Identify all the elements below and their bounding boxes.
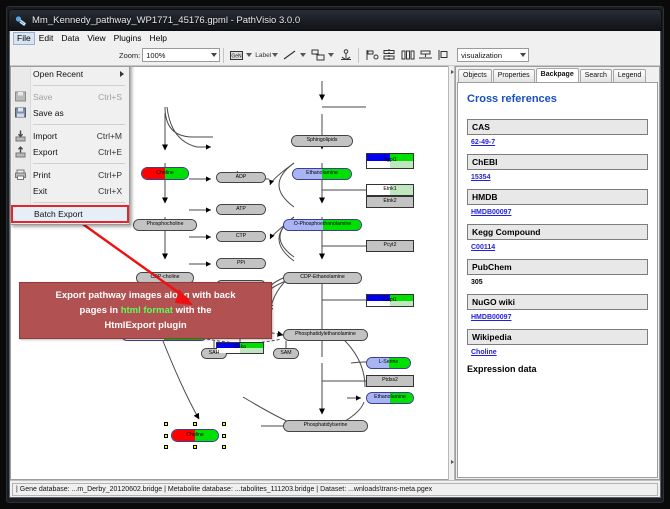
tab-legend[interactable]: Legend <box>613 69 646 82</box>
xref-source-cas: CAS <box>467 119 648 135</box>
xref-block: ChEBI15354 <box>467 154 648 181</box>
file-menu-item-batch-export[interactable]: Batch Export <box>12 206 128 222</box>
visualization-value: visualization <box>461 51 502 60</box>
menubar: File Edit Data View Plugins Help <box>10 31 660 45</box>
menu-item-label: Open Recent <box>33 69 129 79</box>
menu-item-label: Exit <box>33 186 98 196</box>
menu-separator <box>33 124 125 125</box>
tab-objects[interactable]: Objects <box>458 69 492 82</box>
chevron-down-icon[interactable] <box>300 53 306 57</box>
chevron-down-icon[interactable] <box>246 53 252 57</box>
chevron-right-icon <box>120 71 124 77</box>
xref-value[interactable]: C00114 <box>467 244 648 251</box>
xref-link[interactable]: HMDB00097 <box>471 314 511 321</box>
xref-value[interactable]: HMDB00097 <box>467 314 648 321</box>
menu-separator <box>33 202 125 203</box>
backpage-content: Cross references CAS62-49-7ChEBI15354HMD… <box>457 82 658 478</box>
menu-item-accelerator: Ctrl+X <box>98 186 129 196</box>
pathway-canvas[interactable]: SphingolipidsEthanolamineO-Phosphoethano… <box>10 66 448 480</box>
export-icon <box>14 145 28 159</box>
align-left-icon[interactable] <box>363 47 379 63</box>
zoom-value: 100% <box>146 51 165 60</box>
statusbar: | Gene database: ...m_Derby_20120602.bri… <box>10 480 660 497</box>
sidebar-tabs: Objects Properties Backpage Search Legen… <box>456 67 659 82</box>
xref-block: HMDBHMDB00097 <box>467 189 648 216</box>
distribute-icon[interactable] <box>399 47 415 63</box>
align-center-icon[interactable] <box>381 47 397 63</box>
xref-value[interactable]: 15354 <box>467 174 648 181</box>
menu-item-accelerator: Ctrl+E <box>98 147 129 157</box>
file-menu-item-print[interactable]: PrintCtrl+P <box>11 167 129 183</box>
menu-help[interactable]: Help <box>146 32 171 45</box>
xref-block: NuGO wikiHMDB00097 <box>467 294 648 321</box>
xref-source-nugo-wiki: NuGO wiki <box>467 294 648 310</box>
xref-block: WikipediaCholine <box>467 329 648 356</box>
stack-icon[interactable] <box>417 47 433 63</box>
cross-references-title: Cross references <box>467 93 648 105</box>
print-icon <box>14 168 28 182</box>
cross-references-list: CAS62-49-7ChEBI15354HMDBHMDB00097Kegg Co… <box>467 119 648 356</box>
xref-value[interactable]: Choline <box>467 349 648 356</box>
xref-source-chebi: ChEBI <box>467 154 648 170</box>
xref-link[interactable]: C00114 <box>471 244 495 251</box>
menu-separator <box>33 163 125 164</box>
splitter-grip <box>451 70 454 75</box>
menu-data[interactable]: Data <box>57 32 83 45</box>
xref-source-kegg-compound: Kegg Compound <box>467 224 648 240</box>
side-panel: Objects Properties Backpage Search Legen… <box>455 66 660 480</box>
chevron-down-icon <box>520 53 526 57</box>
menu-item-label: Export <box>33 147 98 157</box>
content-area: SphingolipidsEthanolamineO-Phosphoethano… <box>10 66 660 480</box>
xref-value[interactable]: HMDB00097 <box>467 209 648 216</box>
svg-text:GeN: GeN <box>231 53 242 59</box>
visualization-combobox[interactable]: visualization <box>457 48 529 62</box>
menu-edit[interactable]: Edit <box>35 32 58 45</box>
xref-link[interactable]: Choline <box>471 349 497 356</box>
file-menu-item-import[interactable]: ImportCtrl+M <box>11 128 129 144</box>
panel-splitter[interactable] <box>448 66 455 480</box>
line-icon[interactable] <box>282 47 298 63</box>
file-menu-item-exit[interactable]: ExitCtrl+X <box>11 183 129 199</box>
anchor-icon[interactable] <box>338 47 354 63</box>
menu-view[interactable]: View <box>83 32 109 45</box>
menu-item-label: Save <box>33 92 98 102</box>
menu-item-accelerator: Ctrl+P <box>98 170 129 180</box>
label-button[interactable]: Label <box>255 52 271 59</box>
menu-item-label: Batch Export <box>34 209 128 219</box>
save-disk-icon <box>14 90 28 104</box>
toolbar-separator <box>223 48 224 63</box>
menu-separator <box>33 85 125 86</box>
xref-block: CAS62-49-7 <box>467 119 648 146</box>
xref-source-pubchem: PubChem <box>467 259 648 275</box>
tab-search[interactable]: Search <box>580 69 612 82</box>
menu-item-label: Import <box>33 131 97 141</box>
chevron-down-icon <box>211 53 217 57</box>
chevron-down-icon[interactable] <box>328 53 334 57</box>
menu-item-accelerator: Ctrl+M <box>97 131 129 141</box>
menu-item-accelerator: Ctrl+S <box>98 92 129 102</box>
chevron-down-icon[interactable] <box>272 53 278 57</box>
zoom-combobox[interactable]: 100% <box>142 48 220 62</box>
toolbar: Zoom: 100% GeN Label <box>10 45 660 66</box>
menu-item-label: Print <box>33 170 98 180</box>
xref-link[interactable]: 62-49-7 <box>471 139 495 146</box>
xref-value: 305 <box>467 279 648 286</box>
pathvisio-app-icon <box>14 14 27 27</box>
file-menu-item-open-recent[interactable]: Open Recent <box>11 66 129 82</box>
xref-source-wikipedia: Wikipedia <box>467 329 648 345</box>
window-title: Mm_Kennedy_pathway_WP1771_45176.gpml - P… <box>32 15 300 26</box>
order-icon[interactable] <box>435 47 451 63</box>
menu-plugins[interactable]: Plugins <box>110 32 146 45</box>
application-body: File Edit Data View Plugins Help Zoom: 1… <box>9 31 661 498</box>
xref-link[interactable]: HMDB00097 <box>471 209 511 216</box>
file-menu-item-save[interactable]: SaveCtrl+S <box>11 89 129 105</box>
window-titlebar: Mm_Kennedy_pathway_WP1771_45176.gpml - P… <box>8 9 662 31</box>
zoom-label: Zoom: <box>119 51 140 60</box>
file-menu-item-save-as[interactable]: Save as <box>11 105 129 121</box>
xref-block: PubChem305 <box>467 259 648 286</box>
save-as-icon <box>14 106 28 120</box>
screenshot-root: Mm_Kennedy_pathway_WP1771_45176.gpml - P… <box>0 0 670 509</box>
xref-block: Kegg CompoundC00114 <box>467 224 648 251</box>
menu-file[interactable]: File <box>13 32 35 45</box>
xref-source-hmdb: HMDB <box>467 189 648 205</box>
toolbar-separator <box>358 48 359 63</box>
datanode-icon[interactable]: GeN <box>228 47 244 63</box>
shape-icon[interactable] <box>310 47 326 63</box>
tab-backpage[interactable]: Backpage <box>536 68 579 82</box>
file-menu-item-export[interactable]: ExportCtrl+E <box>11 144 129 160</box>
expression-data-header: Expression data <box>467 364 648 374</box>
status-databases: | Gene database: ...m_Derby_20120602.bri… <box>12 483 658 496</box>
menu-item-label: Save as <box>33 108 129 118</box>
tab-properties[interactable]: Properties <box>493 69 535 82</box>
file-menu-dropdown[interactable]: NewCtrl+NOpenCtrl+OOpen RecentSaveCtrl+S… <box>10 66 130 225</box>
import-icon <box>14 129 28 143</box>
xref-value[interactable]: 62-49-7 <box>467 139 648 146</box>
xref-link[interactable]: 15354 <box>471 174 490 181</box>
